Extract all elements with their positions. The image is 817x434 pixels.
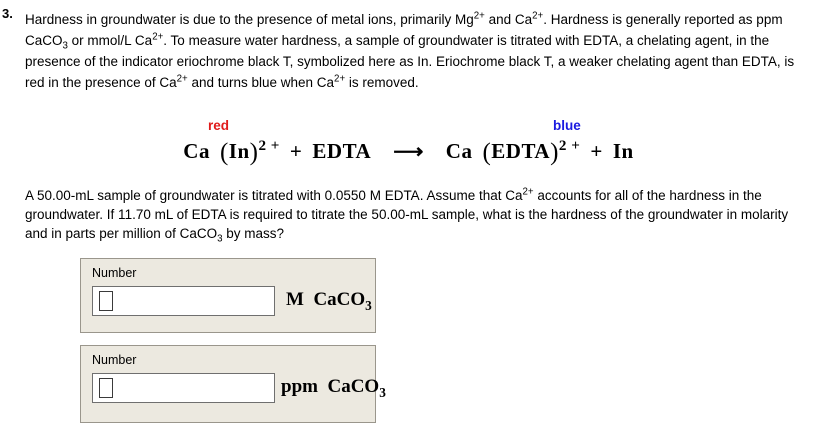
reaction-color-labels: red blue	[0, 118, 817, 136]
eq-left-charge: 2 +	[258, 138, 279, 154]
p2-text-3: by mass?	[223, 226, 285, 241]
p1-sup-4: 2+	[152, 32, 163, 43]
question-paragraph-2: A 50.00-mL sample of groundwater is titr…	[25, 186, 810, 243]
molarity-unit-prefix: M	[286, 289, 304, 310]
p2-sup-1: 2+	[523, 187, 534, 198]
ppm-unit-formula: CaCO	[327, 376, 379, 397]
molarity-input[interactable]	[92, 286, 275, 316]
p1-text-7: is removed.	[345, 75, 419, 90]
question-page: 3. Hardness in groundwater is due to the…	[0, 0, 817, 434]
eq-plus-2: +	[590, 139, 602, 163]
eq-right-metal: Ca	[446, 139, 473, 163]
eq-reagent: EDTA	[312, 139, 371, 163]
p1-text-4: or mmol/L Ca	[68, 33, 152, 48]
ppm-unit-sub: 3	[379, 385, 386, 400]
eq-right-paren-close: )	[550, 139, 559, 166]
eq-plus-1: +	[290, 139, 302, 163]
ppm-unit: ppm CaCO3	[281, 376, 386, 398]
question-paragraph-1: Hardness in groundwater is due to the pr…	[25, 9, 808, 93]
p1-sup-5: 2+	[177, 74, 188, 85]
eq-product: In	[613, 139, 634, 163]
p1-sup-1: 2+	[474, 11, 485, 22]
p1-text-1: Hardness in groundwater is due to the pr…	[25, 12, 474, 27]
ppm-input[interactable]	[92, 373, 275, 403]
molarity-unit: M CaCO3	[286, 289, 372, 311]
p1-sup-6: 2+	[334, 74, 345, 85]
chemical-equation: Ca(In)2 ++EDTA⟶Ca(EDTA)2 ++In	[0, 139, 817, 167]
p1-text-2: and Ca	[485, 12, 532, 27]
question-number: 3.	[2, 6, 13, 21]
molarity-unit-formula: CaCO	[313, 289, 365, 310]
ppm-unit-prefix: ppm	[281, 376, 318, 397]
eq-left-metal: Ca	[183, 139, 210, 163]
p1-sup-2: 2+	[532, 11, 543, 22]
eq-right-ligand: EDTA	[491, 139, 550, 163]
eq-right-paren-open: (	[482, 139, 491, 166]
answer-label-ppm: Number	[92, 353, 136, 367]
answer-box-molarity: Number M CaCO3	[80, 258, 376, 333]
eq-arrow-icon: ⟶	[371, 139, 446, 164]
p2-text-1: A 50.00-mL sample of groundwater is titr…	[25, 188, 523, 203]
eq-right-charge: 2 +	[559, 138, 580, 154]
text-cursor-icon	[99, 378, 113, 398]
text-cursor-icon	[99, 291, 113, 311]
p1-text-6: and turns blue when Ca	[188, 75, 334, 90]
eq-left-paren-open: (	[220, 139, 229, 166]
molarity-unit-sub: 3	[365, 298, 372, 313]
product-color-label: blue	[553, 118, 581, 133]
reactant-color-label: red	[208, 118, 229, 133]
answer-label-molarity: Number	[92, 266, 136, 280]
answer-box-ppm: Number ppm CaCO3	[80, 345, 376, 423]
eq-left-ligand: In	[229, 139, 250, 163]
